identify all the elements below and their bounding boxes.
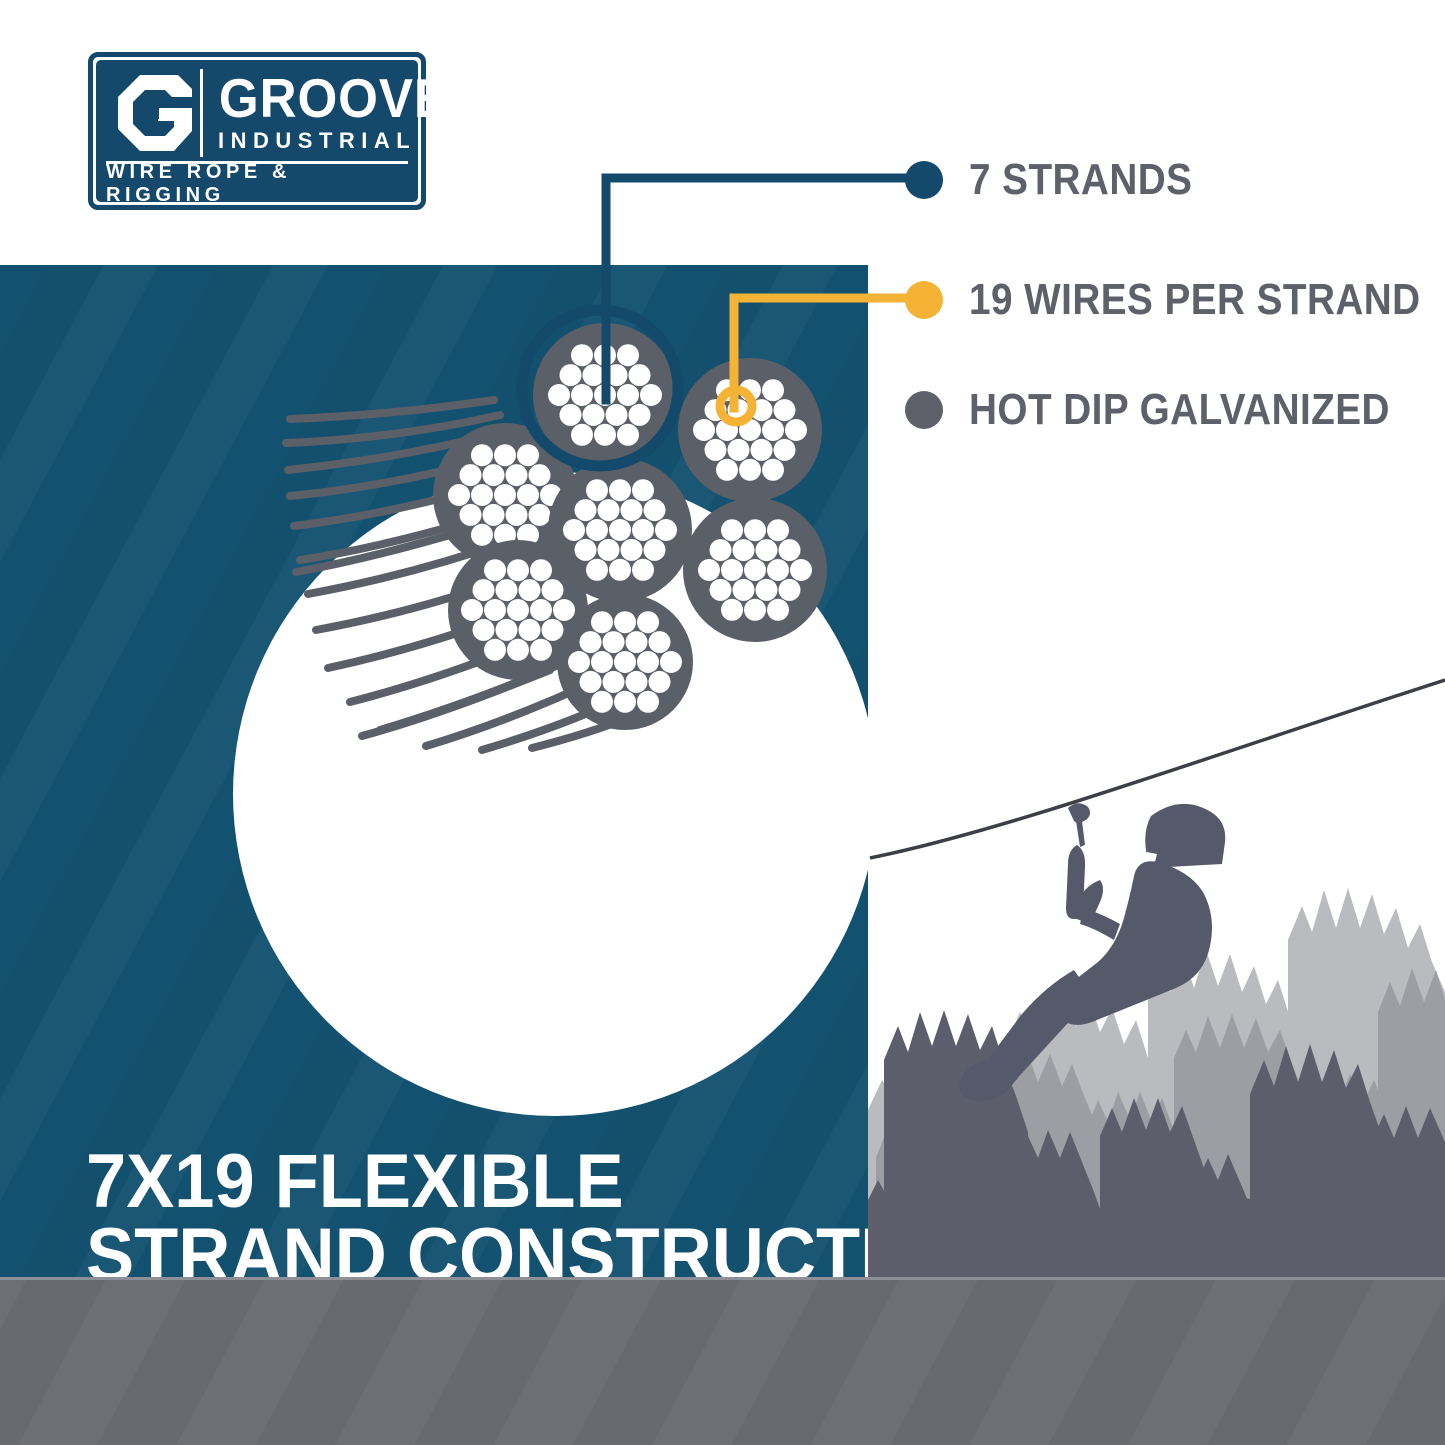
page-title: 7X19 FLEXIBLE STRAND CONSTRUCTION bbox=[86, 1145, 808, 1277]
callout-19-wires-per-strand: 19 WIRES PER STRAND bbox=[905, 278, 1445, 322]
callout-dot-navy-icon bbox=[905, 161, 943, 199]
callout-label-19-wires: 19 WIRES PER STRAND bbox=[969, 278, 1421, 322]
callout-hot-dip-galvanized: HOT DIP GALVANIZED bbox=[905, 388, 1445, 432]
logo-monogram-cell bbox=[106, 69, 203, 157]
logo-inner-plate: GROOVE INDUSTRIAL WIRE ROPE & RIGGING bbox=[96, 60, 418, 202]
logo-brand-subtitle: INDUSTRIAL bbox=[212, 130, 408, 152]
brand-logo[interactable]: GROOVE INDUSTRIAL WIRE ROPE & RIGGING bbox=[88, 52, 426, 210]
callout-dot-amber-icon bbox=[905, 281, 943, 319]
callout-label-7-strands: 7 STRANDS bbox=[969, 158, 1192, 202]
logo-wordmark: GROOVE INDUSTRIAL bbox=[212, 66, 408, 158]
callout-label-hot-dip: HOT DIP GALVANIZED bbox=[969, 388, 1390, 432]
bottom-bar-texture bbox=[0, 1277, 1445, 1445]
headline-line-2: STRAND CONSTRUCTION bbox=[86, 1219, 808, 1277]
logo-brand-name: GROOVE bbox=[219, 72, 401, 124]
headline-line-1: 7X19 FLEXIBLE bbox=[86, 1145, 808, 1219]
logo-tagline: WIRE ROPE & RIGGING bbox=[106, 168, 408, 199]
zipline-scene bbox=[868, 640, 1445, 1280]
single-wire-ring-marker bbox=[712, 382, 760, 430]
callout-7-strands: 7 STRANDS bbox=[905, 158, 1223, 202]
callout-dot-gray-icon bbox=[905, 391, 943, 429]
bottom-bar-divider bbox=[0, 1277, 1445, 1280]
infographic-canvas: 7X19 FLEXIBLE STRAND CONSTRUCTION Our ai… bbox=[0, 0, 1445, 1445]
bottom-accent-bar bbox=[0, 1277, 1445, 1445]
groove-g-monogram-icon bbox=[118, 75, 192, 151]
